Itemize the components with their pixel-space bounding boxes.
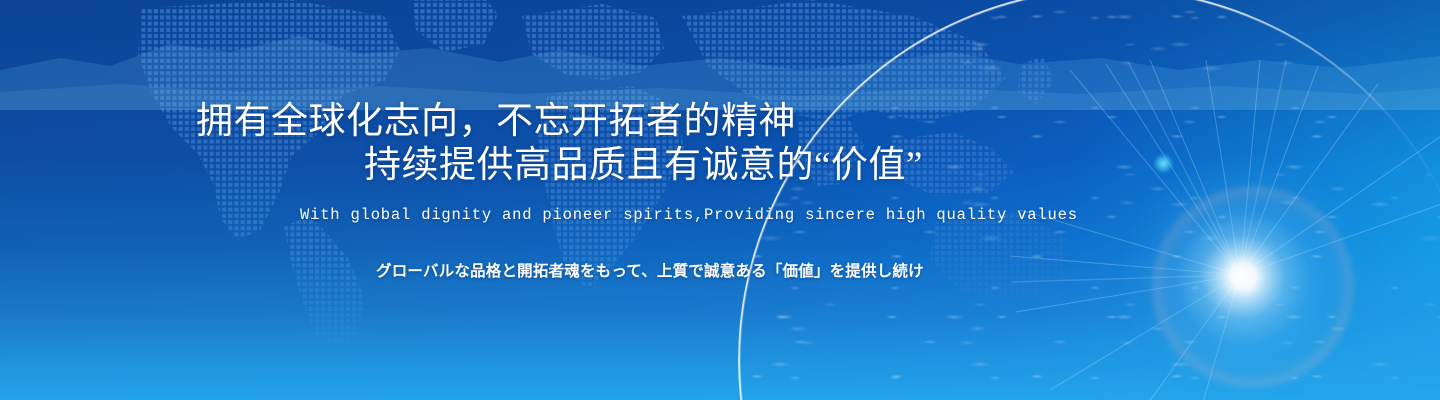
headline-line-2: 持续提供高品质且有诚意的“价值”	[364, 134, 923, 188]
sun-flare	[1118, 152, 1368, 400]
lens-flare-orb	[1154, 154, 1173, 173]
banner-copy: 拥有全球化志向，不忘开拓者的精神 持续提供高品质且有诚意的“价值” With g…	[0, 0, 1150, 400]
subline-english: With global dignity and pioneer spirits,…	[300, 206, 1078, 224]
hero-banner: 拥有全球化志向，不忘开拓者的精神 持续提供高品质且有诚意的“价值” With g…	[0, 0, 1440, 400]
subline-japanese: グローバルな品格と開拓者魂をもって、上質で誠意ある「価値」を提供し続け	[376, 259, 924, 281]
lens-flare-ring	[1152, 186, 1354, 388]
